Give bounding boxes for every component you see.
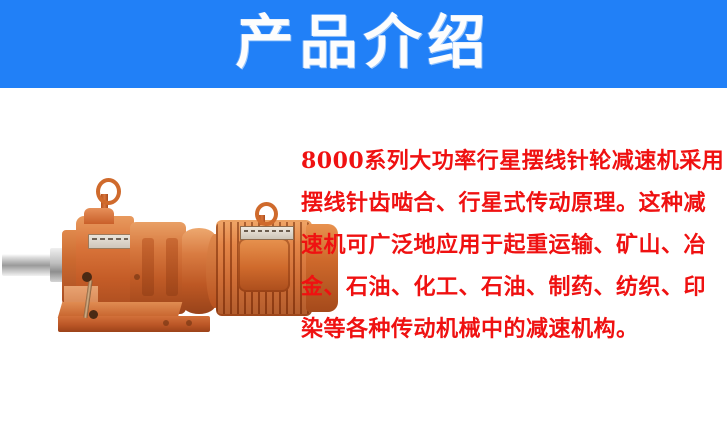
oil-plug-knob	[89, 310, 98, 319]
bolt-head	[163, 320, 169, 326]
page-header-banner: 产品介绍	[0, 0, 727, 88]
description-line: 摆线针齿啮合、行星式传动原理。这种减	[301, 182, 711, 224]
reducer-nameplate	[88, 234, 132, 249]
product-introduction-page: 产品介绍 8000系列大功率行星摆线针轮减速	[0, 0, 727, 427]
description-line: 速机可广泛地应用于起重运输、矿山、冶	[301, 224, 711, 266]
product-description: 8000系列大功率行星摆线针轮减速机采用 摆线针齿啮合、行星式传动原理。这种减 …	[301, 140, 711, 350]
reducer-top-boss	[84, 208, 114, 224]
gearbox-rib	[142, 238, 154, 296]
oil-plug-knob	[82, 272, 92, 282]
motor-terminal-box	[238, 238, 290, 292]
gearbox-rib	[166, 238, 178, 296]
description-line: 金、石油、化工、石油、制药、纺织、印	[301, 266, 711, 308]
product-image	[0, 168, 300, 368]
motor-eye-bolt	[255, 202, 278, 226]
bolt-head	[186, 320, 192, 326]
description-line: 8000系列大功率行星摆线针轮减速机采用	[301, 140, 711, 182]
motor-nameplate	[240, 226, 294, 240]
description-line: 染等各种传动机械中的减速机构。	[301, 308, 711, 350]
page-title: 产品介绍	[0, 4, 727, 80]
reducer-eye-bolt	[96, 178, 121, 205]
output-shaft	[2, 254, 54, 276]
bolt-head	[134, 274, 140, 280]
